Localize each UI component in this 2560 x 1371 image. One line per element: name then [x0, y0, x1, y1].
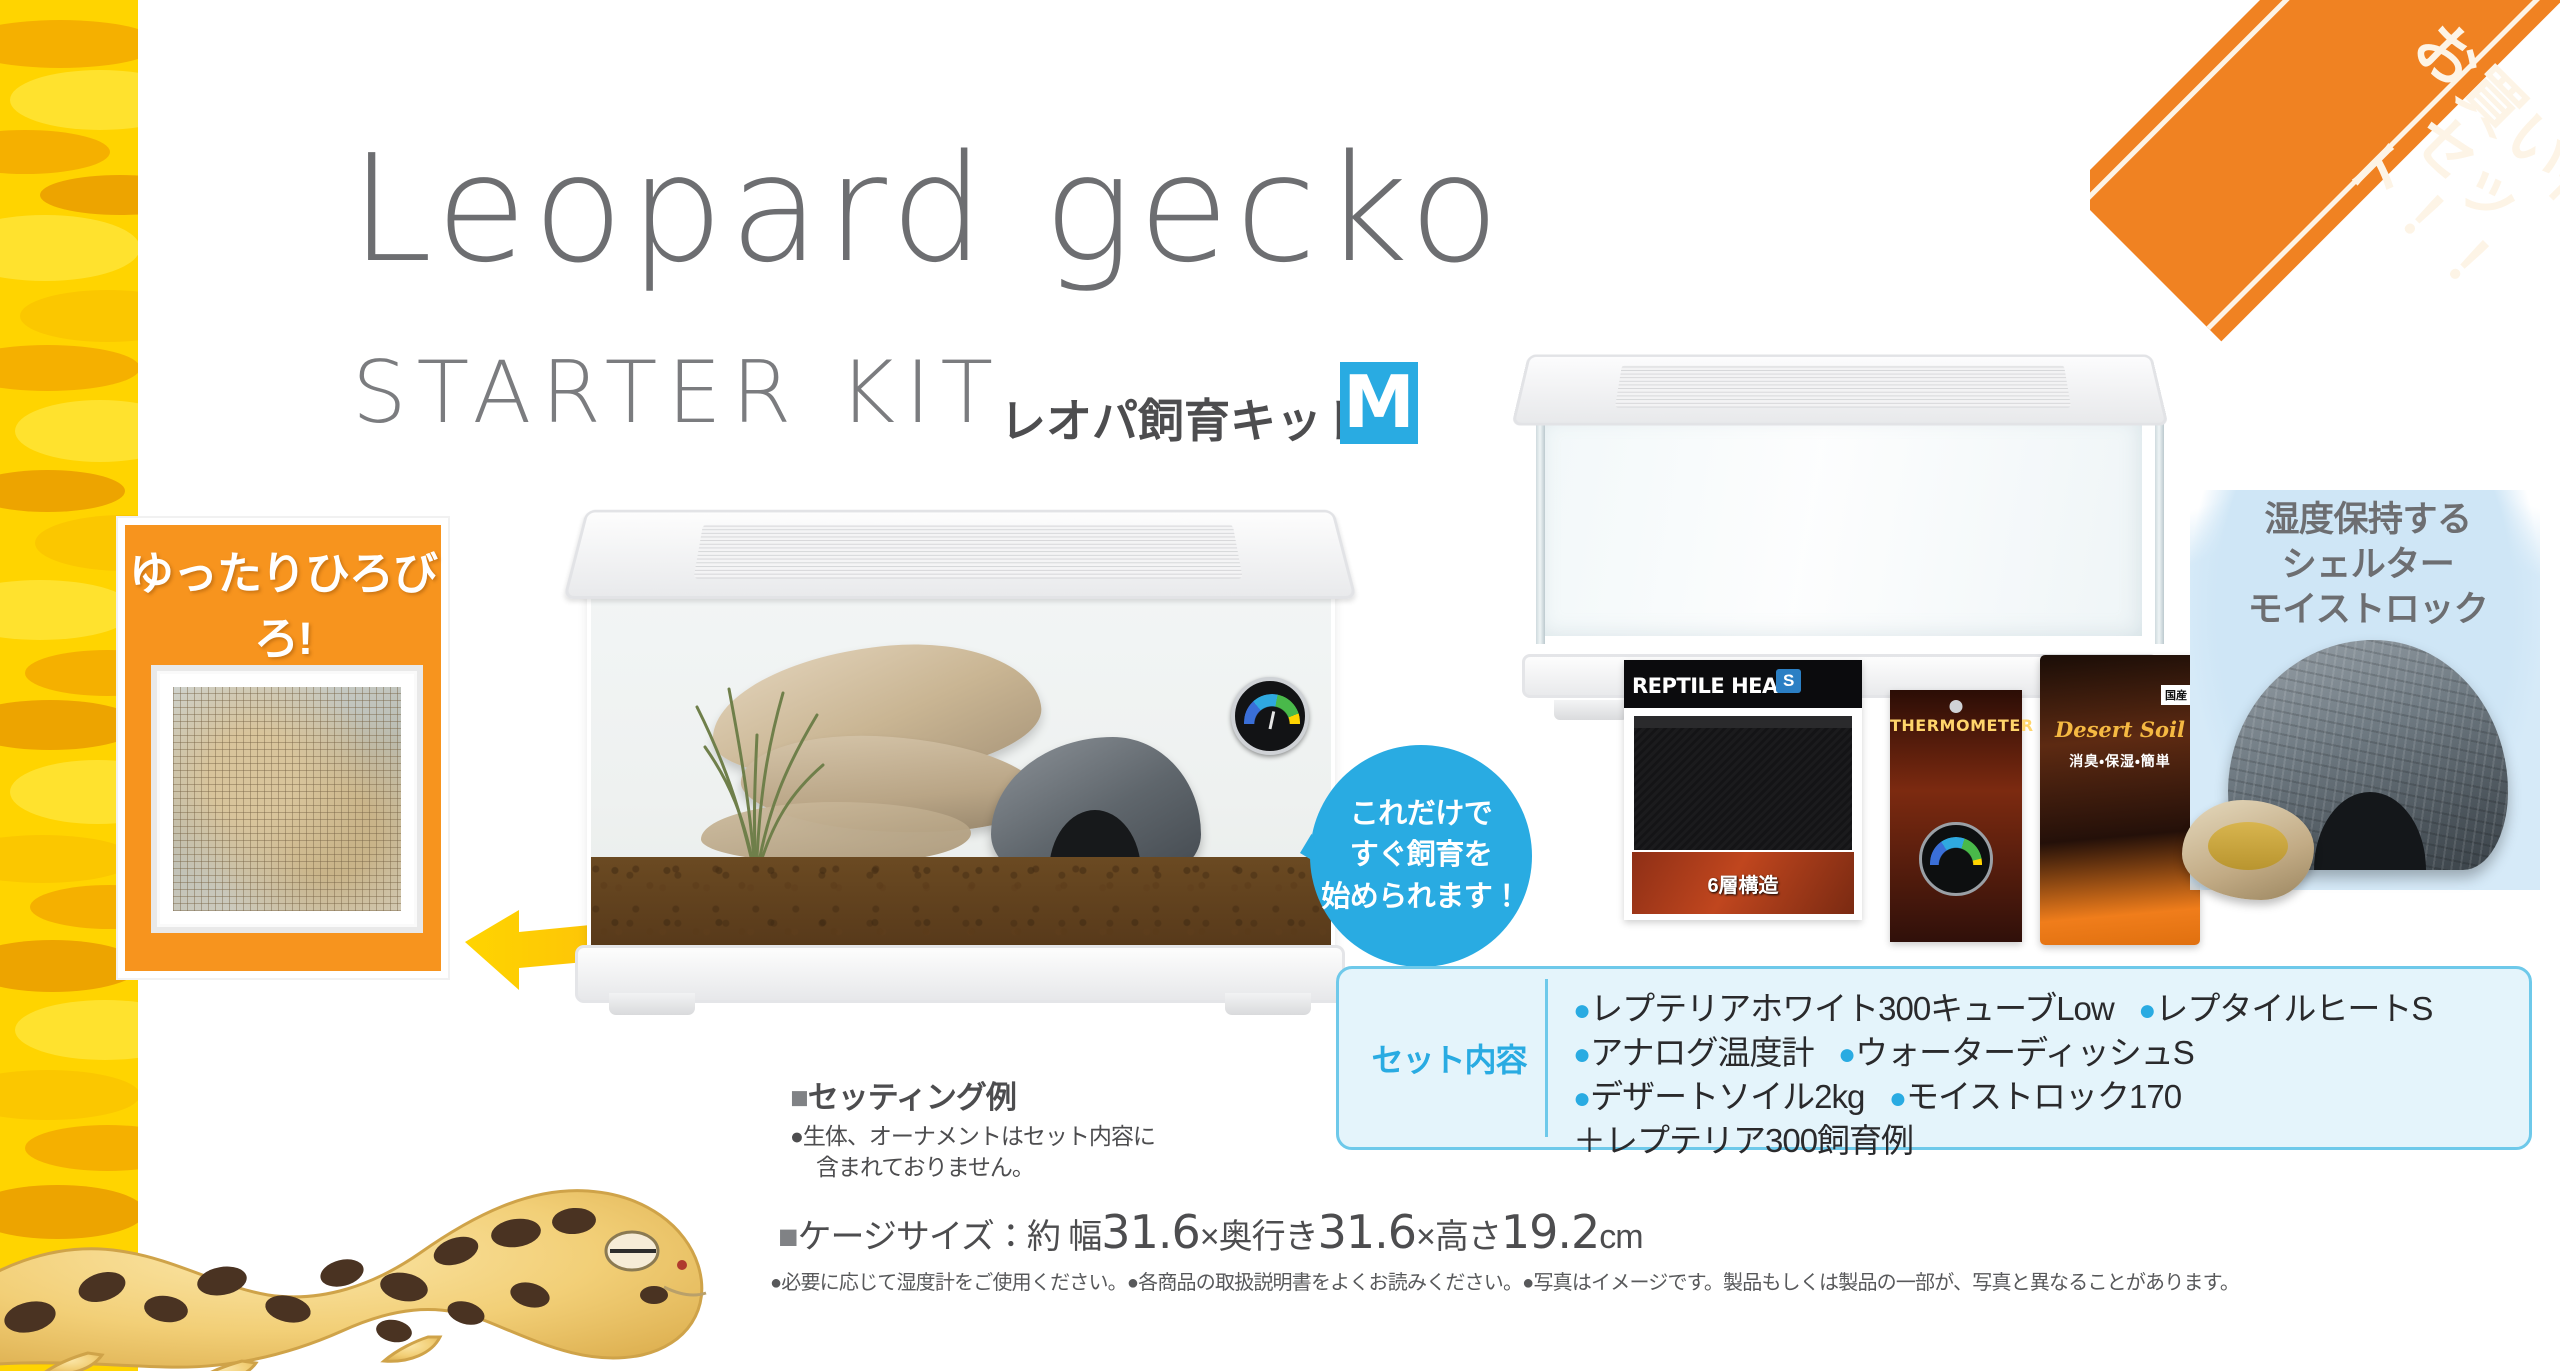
terrarium2-glass — [1534, 412, 2146, 640]
bubble-line-2: すぐ飼育を — [1321, 835, 1521, 876]
terrarium-foot-right — [1225, 993, 1311, 1015]
bubble-line-3: 始められます！ — [1321, 877, 1521, 918]
roomy-depth-callout: ゆったりひろびろ! 奥行き約30cm — [118, 518, 448, 978]
terrarium2-lid — [1511, 354, 2168, 425]
setting-example-notes: ■セッティング例 ●生体、オーナメントはセット内容に 含まれておりません。 — [790, 1072, 1155, 1184]
cage-height-value: 19.2 — [1501, 1205, 1599, 1259]
set-item-2: レプタイルヒートS — [2155, 990, 2432, 1027]
reptile-heat-mat-image — [1634, 716, 1852, 850]
square-bullet-icon: ■ — [790, 1080, 808, 1115]
reptile-heat-size-badge: S — [1776, 669, 1801, 693]
set-contents-row: ●デザートソイル2kg ●モイストロック170 — [1573, 1075, 2513, 1119]
set-item-6: モイストロック170 — [1906, 1078, 2181, 1115]
set-contents-box: セット内容 ●レプテリアホワイト300キューブLow ●レプタイルヒートS ●ア… — [1336, 966, 2532, 1150]
callout-line-1: ゆったりひろびろ! — [125, 537, 441, 667]
cage-width-value: 31.6 — [1101, 1205, 1199, 1259]
lid-mesh-screen — [694, 525, 1243, 579]
square-bullet-icon: ■ — [778, 1218, 798, 1256]
bullet-icon: ● — [1838, 1038, 1855, 1071]
leopard-gecko-photo — [0, 965, 730, 1371]
round-bullet-icon: ● — [790, 1123, 803, 1149]
shelter-line-1: 湿度保持する — [2196, 498, 2540, 543]
fineprint-disclaimer: ●必要に応じて湿度計をご使用ください。●各商品の取扱説明書をよくお読みください。… — [770, 1266, 2239, 1295]
page-subtitle: STARTER KIT — [352, 350, 1003, 436]
desert-soil-substrate — [591, 857, 1331, 949]
poster-canvas: お買い得 セット！！ Leopard gecko STARTER KIT レオパ… — [0, 0, 2560, 1371]
terrarium2-pillar-left — [1536, 412, 1545, 644]
kit-name-japanese: レオパ飼育キット — [1000, 385, 1368, 451]
terrarium2-pillar-right — [2155, 412, 2164, 644]
desert-soil-title: Desert Soil — [2040, 717, 2200, 742]
water-dish-basin — [2208, 822, 2288, 870]
start-keeping-bubble: これだけで すぐ飼育を 始められます！ — [1310, 745, 1532, 967]
cage-size-line: ■ケージサイズ：約 幅31.6×奥行き31.6×高さ19.2cm — [778, 1205, 1643, 1259]
thermometer-package: THERMOMETER — [1890, 690, 2022, 942]
mesh-lid-photo — [151, 665, 423, 933]
reptile-heat-feature-strip: 6層構造 — [1632, 852, 1854, 914]
desert-soil-package: 国産 Desert Soil 消臭・保湿・簡単 — [2040, 655, 2200, 945]
thermometer-title: THERMOMETER — [1890, 716, 2022, 735]
reptile-heat-package: REPTILE HEAT S 6層構造 — [1624, 660, 1862, 920]
ribbon-label: お買い得 セット！！ — [2220, 0, 2560, 420]
reptile-heat-header: REPTILE HEAT S — [1624, 660, 1862, 708]
reptile-heat-feature-label: 6層構造 — [1707, 869, 1778, 898]
cage-size-label: ケージサイズ：約 幅 — [798, 1218, 1102, 1256]
mesh-texture — [173, 687, 401, 911]
bullet-icon: ● — [1573, 1082, 1590, 1115]
set-item-4: ウォーターディッシュS — [1855, 1034, 2194, 1071]
water-dish-photo — [2182, 800, 2314, 900]
bullet-icon: ● — [1889, 1082, 1906, 1115]
bullet-icon: ● — [2138, 994, 2155, 1027]
setting-note-line-2: 含まれておりません。 — [816, 1152, 1155, 1183]
bullet-icon: ● — [1573, 994, 1590, 1027]
domestic-badge: 国産 — [2161, 685, 2191, 705]
cage-x-1: ×奥行き — [1200, 1218, 1318, 1256]
gauge-color-arc — [1930, 837, 1982, 865]
set-contents-plus-row: ＋レプテリア300飼育例 — [1573, 1119, 2513, 1163]
reptile-heat-title: REPTILE HEAT — [1632, 674, 1790, 698]
bullet-icon: ● — [1573, 1038, 1590, 1071]
set-contents-row: ●レプテリアホワイト300キューブLow ●レプタイルヒートS — [1573, 987, 2513, 1031]
set-item-3: アナログ温度計 — [1590, 1034, 1813, 1071]
terrarium-lid — [563, 510, 1357, 599]
terrarium-glass — [587, 583, 1335, 953]
cage-x-2: ×高さ — [1416, 1218, 1501, 1256]
setup-example-terrarium-photo — [565, 505, 1355, 1015]
set-contents-label: セット内容 — [1361, 1035, 1537, 1081]
setting-note-line-1: 生体、オーナメントはセット内容に — [803, 1123, 1155, 1149]
ornament-grass-plant — [671, 649, 841, 879]
terrarium2-foot-left — [1554, 700, 1628, 720]
size-badge-m: M — [1340, 362, 1418, 444]
set-contents-divider — [1545, 979, 1548, 1137]
cage-size-unit: cm — [1599, 1218, 1642, 1256]
setting-example-heading-text: セッティング例 — [808, 1080, 1016, 1115]
shelter-callout-text: 湿度保持する シェルター モイストロック — [2196, 498, 2540, 632]
setting-example-note: ●生体、オーナメントはセット内容に 含まれておりません。 — [790, 1121, 1155, 1184]
bubble-line-1: これだけで — [1321, 794, 1521, 835]
terrarium2-mesh-screen — [1615, 366, 2071, 408]
desert-soil-subtitle: 消臭・保湿・簡単 — [2040, 751, 2200, 771]
analog-thermometer-dial — [1231, 677, 1309, 755]
package-hang-hole — [1950, 700, 1963, 713]
shelter-line-2: シェルター — [2196, 543, 2540, 588]
cage-depth-value: 31.6 — [1318, 1205, 1416, 1259]
page-title: Leopard gecko — [350, 135, 1506, 283]
set-contents-list: ●レプテリアホワイト300キューブLow ●レプタイルヒートS ●アナログ温度計… — [1573, 987, 2513, 1163]
shelter-line-3: モイストロック — [2196, 588, 2540, 633]
setting-example-heading: ■セッティング例 — [790, 1072, 1155, 1117]
set-contents-row: ●アナログ温度計 ●ウォーターディッシュS — [1573, 1031, 2513, 1075]
set-item-1: レプテリアホワイト300キューブLow — [1590, 990, 2114, 1027]
set-item-5: デザートソイル2kg — [1590, 1078, 1864, 1115]
analog-gauge-icon — [1919, 822, 1993, 896]
